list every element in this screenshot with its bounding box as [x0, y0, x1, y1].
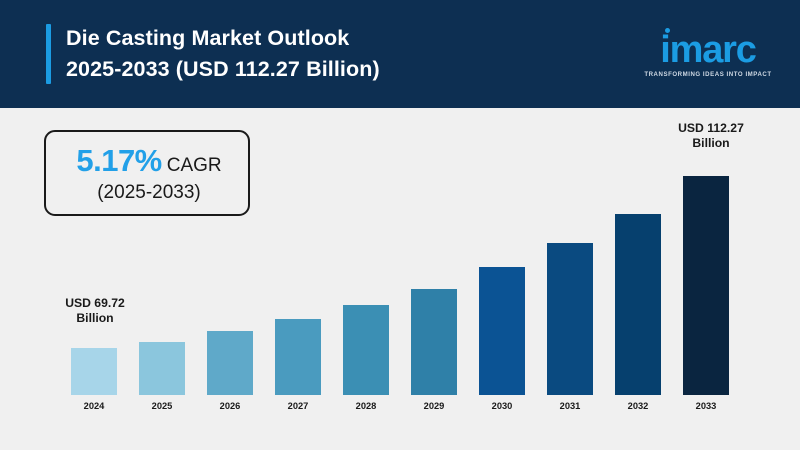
- bar-2029: [411, 289, 457, 395]
- x-axis-label-2032: 2032: [615, 401, 661, 411]
- x-axis-label-2033: 2033: [683, 401, 729, 411]
- bar-2028: [343, 305, 389, 395]
- x-axis-label-2026: 2026: [207, 401, 253, 411]
- bar-chart: 2024202520262027202820292030203120322033: [0, 0, 800, 450]
- x-axis-label-2031: 2031: [547, 401, 593, 411]
- bar-2026: [207, 331, 253, 395]
- bar-2025: [139, 342, 185, 395]
- bar-2033: [683, 176, 729, 395]
- x-axis-label-2028: 2028: [343, 401, 389, 411]
- bar-2031: [547, 243, 593, 395]
- bar-2024: [71, 348, 117, 395]
- x-axis-label-2030: 2030: [479, 401, 525, 411]
- x-axis-label-2025: 2025: [139, 401, 185, 411]
- x-axis-label-2024: 2024: [71, 401, 117, 411]
- x-axis-label-2029: 2029: [411, 401, 457, 411]
- bar-2027: [275, 319, 321, 395]
- bar-2032: [615, 214, 661, 395]
- infographic-page: Die Casting Market Outlook 2025-2033 (US…: [0, 0, 800, 450]
- x-axis-label-2027: 2027: [275, 401, 321, 411]
- bar-2030: [479, 267, 525, 395]
